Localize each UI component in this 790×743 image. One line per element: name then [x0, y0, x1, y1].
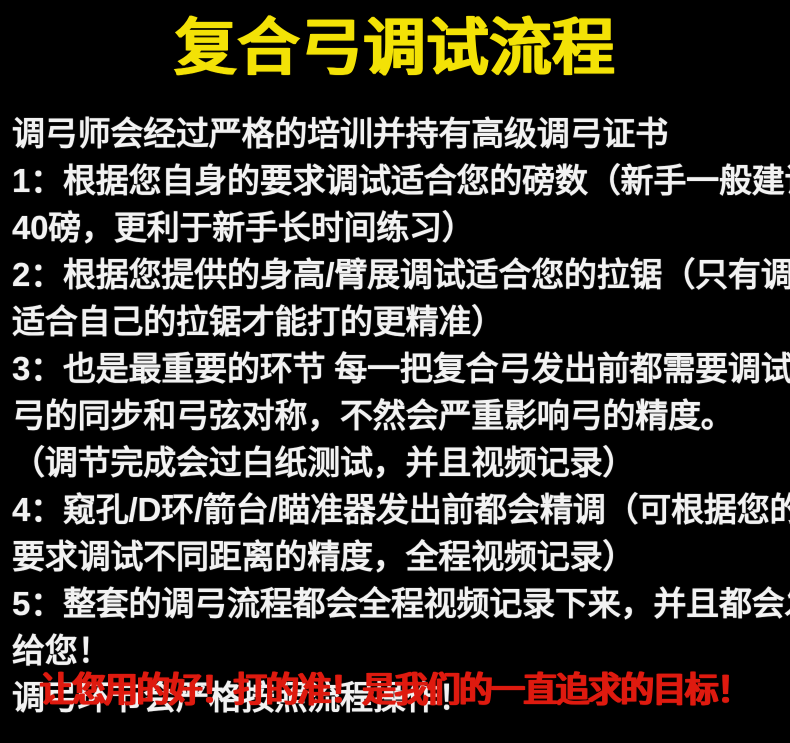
poster-root: 复合弓调试流程 调弓师会经过严格的培训并持有高级调弓证书 1：根据您自身的要求调…: [0, 0, 790, 743]
closing-slogan: 让您用的好！打的准！是我们的一直追求的目标！: [40, 668, 750, 714]
body-line-step1-part2: 40磅，更利于新手长时间练习）: [12, 204, 784, 251]
body-line-step3-note: （调节完成会过白纸测试，并且视频记录）: [12, 439, 784, 486]
body-line-step4-part2: 要求调试不同距离的精度，全程视频记录）: [12, 533, 784, 580]
body-line-step3-part1: 3：也是最重要的环节 每一把复合弓发出前都需要调试: [12, 345, 784, 392]
slogan-container: 让您用的好！打的准！是我们的一直追求的目标！: [0, 668, 790, 714]
body-line-step5-part2: 给您！: [12, 627, 784, 674]
body-line-step5-part1: 5：整套的调弓流程都会全程视频记录下来，并且都会发: [12, 580, 784, 627]
page-title: 复合弓调试流程: [174, 14, 615, 84]
body-line-intro: 调弓师会经过严格的培训并持有高级调弓证书: [12, 110, 784, 157]
title-container: 复合弓调试流程: [0, 14, 790, 84]
body-line-step2-part2: 适合自己的拉锯才能打的更精准）: [12, 298, 784, 345]
body-line-step1-part1: 1：根据您自身的要求调试适合您的磅数（新手一般建议: [12, 157, 784, 204]
body-line-step4-part1: 4：窥孔/D环/箭台/瞄准器发出前都会精调（可根据您的: [12, 486, 784, 533]
body-text-block: 调弓师会经过严格的培训并持有高级调弓证书 1：根据您自身的要求调试适合您的磅数（…: [12, 110, 784, 721]
body-line-step3-part2: 弓的同步和弓弦对称，不然会严重影响弓的精度。: [12, 392, 784, 439]
body-line-step2-part1: 2：根据您提供的身高/臂展调试适合您的拉锯（只有调试: [12, 251, 784, 298]
